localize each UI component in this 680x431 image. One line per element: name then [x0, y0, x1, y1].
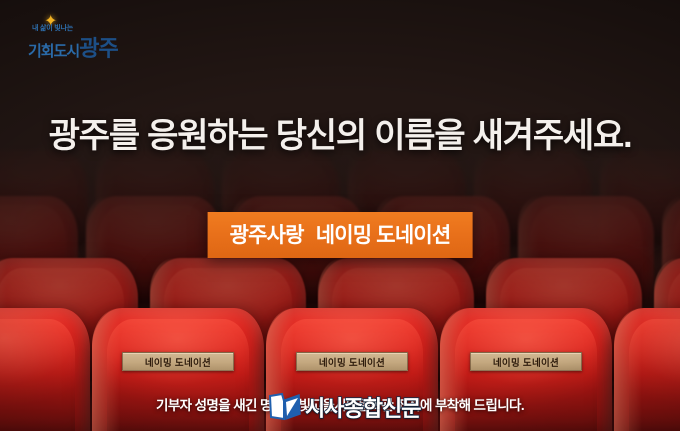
promo-banner: 네이밍 도네이션 네이밍 도네이션 네이밍 도네이션 ✦ 내 삶이 빛나는 기회…	[0, 0, 680, 431]
campaign-badge-main: 네이밍 도네이션	[316, 224, 451, 247]
logo-city-text: 광주	[79, 36, 117, 61]
logo-wordmark: 기회도시광주	[28, 31, 118, 63]
gwangju-city-logo: ✦ 내 삶이 빛나는 기회도시광주	[28, 12, 148, 54]
seat-plaque-1: 네이밍 도네이션	[122, 352, 234, 371]
campaign-badge: 광주사랑네이밍 도네이션	[208, 212, 473, 258]
page-title: 광주를 응원하는 당신의 이름을 새겨주세요.	[0, 108, 680, 157]
seat-plaque-3: 네이밍 도네이션	[470, 352, 582, 371]
logo-sub-text: 기회도시	[28, 43, 79, 60]
seat-plaque-2: 네이밍 도네이션	[296, 352, 408, 371]
caption-text: 기부자 성명을 새긴 명판을 빛고을시민문화관 좌석에 부착해 드립니다.	[0, 394, 680, 414]
campaign-badge-lead: 광주사랑	[230, 224, 304, 247]
